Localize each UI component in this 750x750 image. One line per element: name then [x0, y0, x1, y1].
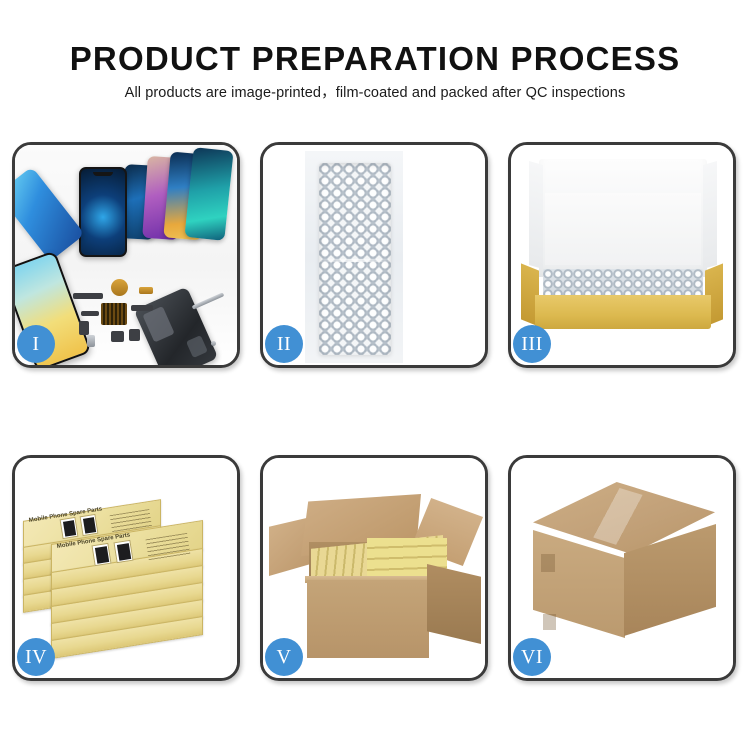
retail-box-thumb-front-1	[91, 543, 111, 566]
bubble-wrap-pouch	[305, 151, 403, 363]
process-step-panel-2[interactable]: II	[260, 142, 488, 368]
step-badge-1: I	[17, 325, 55, 363]
process-step-panel-5[interactable]: V	[260, 455, 488, 681]
carton-side-face	[427, 564, 481, 644]
foam-insert	[545, 193, 701, 265]
part-camera-module	[129, 329, 140, 341]
retail-box-thumb-front-2	[113, 540, 133, 563]
process-step-panel-6[interactable]: VI	[508, 455, 736, 681]
step-badge-4: IV	[17, 638, 55, 676]
part-bracket	[87, 335, 95, 347]
carton-front-face	[307, 580, 429, 658]
retail-box-thumb-rear-1	[60, 517, 79, 539]
part-cable-2	[79, 321, 89, 335]
kraft-box-front-panel	[535, 295, 711, 329]
retail-box-stack: Mobile Phone Spare Parts Mobile Phone Sp…	[23, 474, 229, 664]
product-preparation-infographic: PRODUCT PREPARATION PROCESS All products…	[0, 0, 750, 750]
bubble-wrapped-contents	[543, 269, 703, 297]
process-step-panel-3[interactable]: III	[508, 142, 736, 368]
part-ic-chip	[101, 303, 127, 325]
part-button-flex	[131, 305, 153, 311]
part-screws	[211, 341, 216, 346]
screen-protector-glass	[79, 167, 127, 257]
part-gold-connector	[139, 287, 153, 294]
part-speaker	[111, 331, 124, 342]
process-step-panel-4[interactable]: Mobile Phone Spare Parts Mobile Phone Sp…	[12, 455, 240, 681]
carton-handle-slot-lower	[543, 614, 556, 630]
process-step-grid: I II III	[0, 0, 750, 750]
part-flex-strip	[73, 293, 103, 299]
process-step-panel-1[interactable]: I	[12, 142, 240, 368]
step-badge-6: VI	[513, 638, 551, 676]
part-cable-1	[81, 311, 99, 316]
step-badge-5: V	[265, 638, 303, 676]
part-gold-coil	[111, 279, 128, 296]
bubble-wrap-seam	[321, 259, 389, 262]
retail-box-thumb-rear-2	[80, 514, 99, 536]
carton-handle-slot-upper	[541, 554, 555, 572]
step-badge-2: II	[265, 325, 303, 363]
step-badge-3: III	[513, 325, 551, 363]
